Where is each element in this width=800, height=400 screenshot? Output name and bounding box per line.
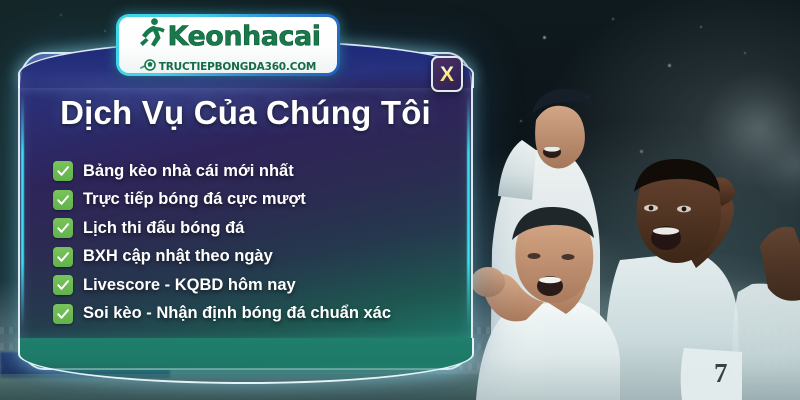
brand-logo-primary-row: Keonhacai bbox=[136, 17, 321, 56]
brand-domain: TRUCTIEPBONGDA360.COM bbox=[159, 62, 316, 73]
feature-list: Bảng kèo nhà cái mới nhất Trực tiếp bóng… bbox=[53, 161, 449, 324]
football-players-photo bbox=[470, 0, 800, 400]
shirt-number: 7 bbox=[714, 358, 728, 389]
list-item: Bảng kèo nhà cái mới nhất bbox=[53, 161, 449, 181]
close-button[interactable]: X bbox=[431, 56, 463, 92]
list-item: Lịch thi đấu bóng đá bbox=[53, 218, 449, 238]
brand-logo-secondary-row: TRUCTIEPBONGDA360.COM bbox=[140, 58, 316, 76]
football-player-kick-icon bbox=[136, 17, 166, 56]
promo-panel: Dịch Vụ Của Chúng Tôi Bảng kèo nhà cái m… bbox=[18, 52, 473, 370]
check-square-icon bbox=[53, 218, 73, 238]
check-square-icon bbox=[53, 190, 73, 210]
check-square-icon bbox=[53, 304, 73, 324]
list-item-label: Livescore - KQBD hôm nay bbox=[83, 276, 296, 295]
list-item-label: BXH cập nhật theo ngày bbox=[83, 247, 273, 266]
check-square-icon bbox=[53, 275, 73, 295]
particle bbox=[60, 14, 62, 16]
list-item-label: Lịch thi đấu bóng đá bbox=[83, 219, 244, 238]
brand-logo-inner: Keonhacai TRUCTIEPBONGDA360.COM bbox=[119, 17, 337, 73]
list-item: Trực tiếp bóng đá cực mượt bbox=[53, 190, 449, 210]
list-item: BXH cập nhật theo ngày bbox=[53, 247, 449, 267]
list-item-label: Trực tiếp bóng đá cực mượt bbox=[83, 190, 306, 209]
particle bbox=[104, 30, 106, 32]
list-item: Livescore - KQBD hôm nay bbox=[53, 275, 449, 295]
list-item-label: Bảng kèo nhà cái mới nhất bbox=[83, 162, 294, 181]
list-item: Soi kèo - Nhận định bóng đá chuẩn xác bbox=[53, 304, 449, 324]
brand-name: Keonhacai bbox=[168, 23, 321, 50]
brand-logo[interactable]: Keonhacai TRUCTIEPBONGDA360.COM bbox=[116, 14, 340, 76]
soccer-ball-icon bbox=[140, 58, 156, 76]
list-item-label: Soi kèo - Nhận định bóng đá chuẩn xác bbox=[83, 304, 391, 323]
check-square-icon bbox=[53, 247, 73, 267]
page-title: Dịch Vụ Của Chúng Tôi bbox=[20, 94, 471, 132]
close-x-icon: X bbox=[440, 64, 454, 85]
check-square-icon bbox=[53, 161, 73, 181]
